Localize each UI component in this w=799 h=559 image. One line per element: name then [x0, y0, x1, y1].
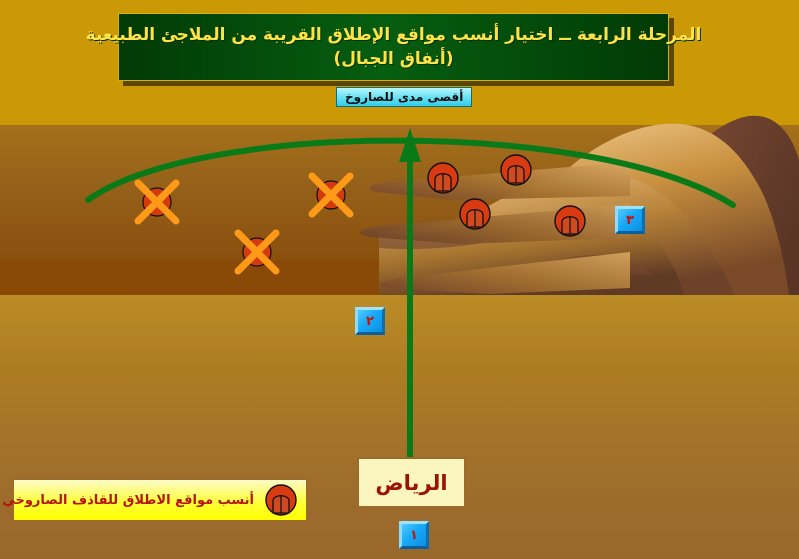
slide-title-line-1: المرحلة الرابعة ــ اختيار أنسب مواقع الإ… [86, 23, 702, 47]
city-label-riyadh: الرياض [357, 457, 466, 508]
rejected-site-3[interactable] [232, 227, 282, 277]
tunnel-site-2[interactable] [499, 153, 533, 187]
rejected-site-2[interactable] [306, 170, 356, 220]
tunnel-icon [264, 483, 298, 517]
rejected-site-1[interactable] [132, 177, 182, 227]
slide-title-line-2: (أنفاق الجبال) [333, 47, 453, 71]
slide-title-box: المرحلة الرابعة ــ اختيار أنسب مواقع الإ… [118, 13, 669, 81]
legend-box: أنسب مواقع الاطلاق للقاذف الصاروخي [12, 478, 308, 522]
launch-direction-arrow-head [399, 128, 421, 162]
max-range-label: أقصى مدى للصاروخ [336, 87, 472, 107]
city-label-text: الرياض [375, 471, 447, 495]
number-box-3-label: ٣ [626, 214, 634, 227]
slide-canvas: المرحلة الرابعة ــ اختيار أنسب مواقع الإ… [0, 0, 799, 559]
number-box-1[interactable]: ١ [399, 521, 429, 549]
number-box-2-label: ٢ [366, 315, 374, 328]
number-box-3[interactable]: ٣ [615, 206, 645, 234]
legend-text: أنسب مواقع الاطلاق للقاذف الصاروخي [2, 493, 254, 508]
number-box-1-label: ١ [410, 529, 418, 542]
tunnel-site-4[interactable] [553, 204, 587, 238]
missile-range-arc-layer [0, 100, 799, 480]
tunnel-site-1[interactable] [426, 161, 460, 195]
tunnel-site-3[interactable] [458, 197, 492, 231]
number-box-2[interactable]: ٢ [355, 307, 385, 335]
